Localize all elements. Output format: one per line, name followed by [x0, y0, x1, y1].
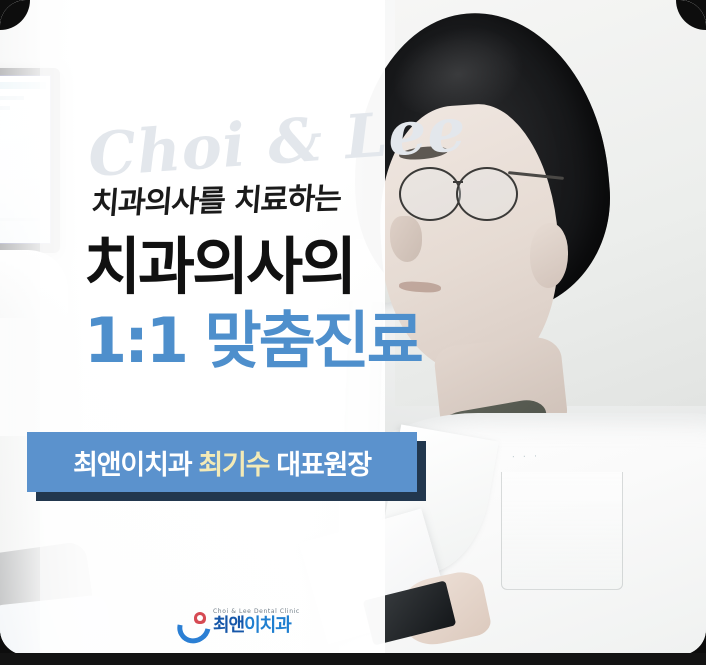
headline-line-1: 치과의사의 [84, 236, 354, 298]
name-banner-person: 최기수 [198, 443, 269, 482]
eyeglasses-bridge [453, 181, 463, 183]
bottom-frame-band [0, 653, 706, 665]
white-coat-pocket [501, 472, 623, 591]
eyeglasses-right-lens [456, 167, 518, 221]
name-banner[interactable]: 최앤이치과 최기수 대표원장 [27, 432, 417, 492]
banner-stage: · · · Choi & Lee 치과의사를 치료하는 [0, 0, 706, 665]
name-banner-title: 대표원장 [276, 443, 371, 482]
tagline-text: 치과의사를 치료하는 [90, 173, 343, 222]
logo-wordmark: Choi & Lee Dental Clinic 최앤이치과 [213, 609, 300, 635]
clinic-logo[interactable]: Choi & Lee Dental Clinic 최앤이치과 [176, 608, 300, 636]
name-banner-clinic: 최앤이치과 [73, 443, 191, 482]
name-banner-text: 최앤이치과 최기수 대표원장 [27, 432, 417, 492]
coat-embroidery: · · · [512, 451, 540, 461]
eyeglasses-left-lens [399, 167, 461, 221]
photo-card: · · · Choi & Lee 치과의사를 치료하는 [0, 0, 706, 655]
logo-korean-part-1: 최앤 [213, 615, 244, 636]
tooth-icon [194, 612, 206, 624]
subject-nose [390, 216, 422, 262]
logo-korean-part-2: 이치과 [244, 615, 291, 636]
logo-swoosh-tooth-icon [176, 608, 206, 636]
headline-line-2: 1:1 맞춤진료 [84, 310, 421, 372]
logo-korean-name: 최앤이치과 [213, 617, 300, 635]
